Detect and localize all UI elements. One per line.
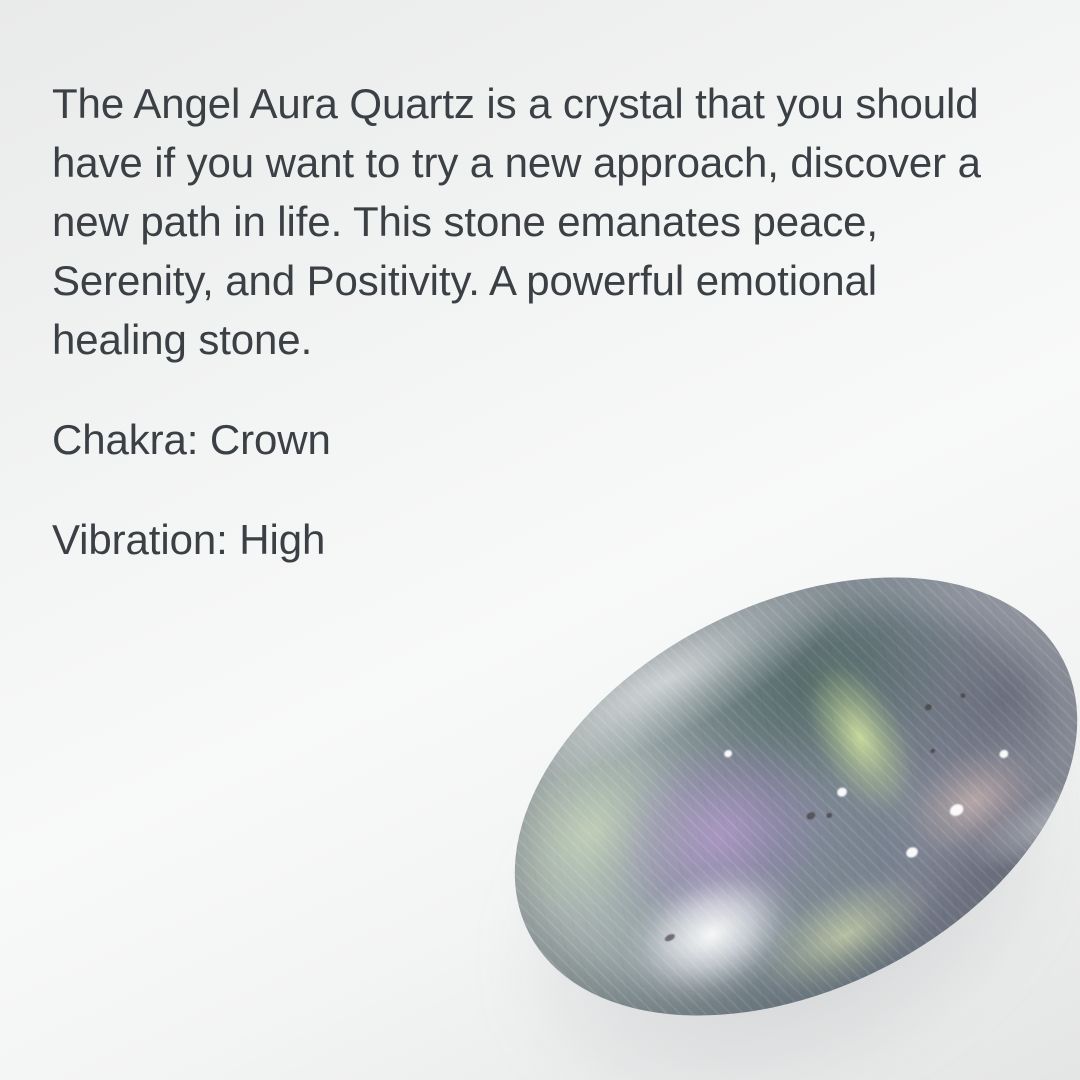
- chakra-line: Chakra: Crown: [52, 410, 1002, 469]
- crystal-sparkle: [948, 802, 965, 818]
- paragraph-spacer: [52, 369, 1002, 410]
- crystal-inclusion: [924, 703, 933, 712]
- vibration-line: Vibration: High: [52, 510, 1002, 569]
- crystal-sparkle: [723, 749, 733, 759]
- crystal-striations: [441, 489, 1080, 1080]
- crystal-sparkle: [904, 845, 919, 859]
- text-block: The Angel Aura Quartz is a crystal that …: [52, 74, 1002, 569]
- crystal-info-card: The Angel Aura Quartz is a crystal that …: [0, 0, 1080, 1080]
- crystal-sparkle: [836, 786, 849, 799]
- description-paragraph: The Angel Aura Quartz is a crystal that …: [52, 74, 987, 369]
- crystal-stone: [441, 489, 1080, 1080]
- crystal-inclusion: [805, 811, 816, 821]
- crystal-inclusion: [664, 932, 677, 942]
- crystal-inclusion: [960, 692, 967, 699]
- crystal-inclusion: [930, 748, 936, 754]
- paragraph-spacer: [52, 469, 1002, 510]
- crystal-inclusion: [825, 812, 833, 819]
- crystal-shadow: [445, 589, 1080, 1080]
- crystal-gloss-highlight: [441, 489, 1080, 1080]
- crystal-sparkle: [998, 748, 1010, 759]
